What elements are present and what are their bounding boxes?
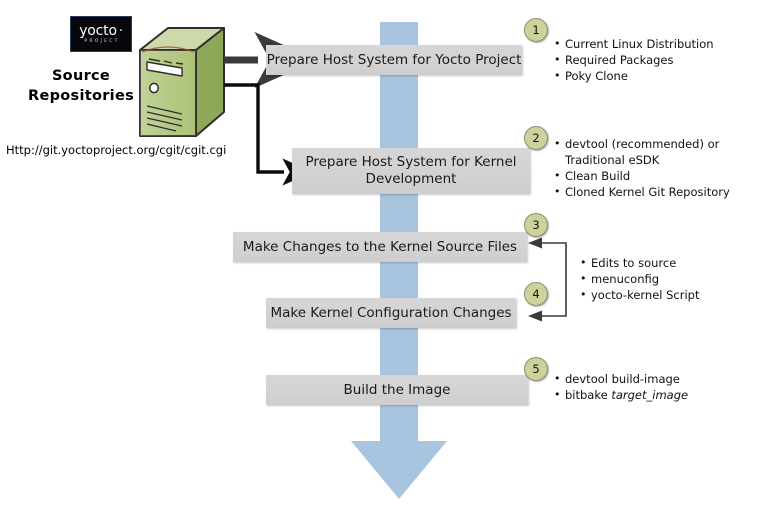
note-item: menuconfig: [580, 271, 730, 287]
yocto-logo-subtitle: PROJECT: [84, 40, 119, 45]
note-item: Poky Clone: [554, 68, 754, 84]
note-item: Clean Build: [554, 168, 750, 184]
note-item: devtool (recommended) or Traditional eSD…: [554, 136, 725, 168]
note-item: yocto-kernel Script: [580, 287, 730, 303]
notes-step-5: devtool build-image bitbake target_image: [554, 371, 734, 403]
note-item-bitbake: bitbake target_image: [554, 387, 734, 403]
step-badge-4: 4: [524, 282, 548, 306]
note-item: devtool build-image: [554, 371, 734, 387]
note-bitbake-prefix: bitbake: [565, 388, 611, 402]
connector-arrow-step4: [528, 311, 542, 322]
note-item: Current Linux Distribution: [554, 36, 754, 52]
yocto-logo-wordmark: yocto·: [79, 24, 123, 38]
yocto-logo: yocto· PROJECT: [70, 16, 132, 52]
note-bitbake-target: target_image: [611, 388, 688, 402]
step-box-make-config-changes[interactable]: Make Kernel Configuration Changes: [266, 298, 516, 328]
source-repository-url: Http://git.yoctoproject.org/cgit/cgit.cg…: [6, 143, 226, 157]
diagram-canvas: yocto· PROJECT Source Repositories Http:…: [0, 0, 769, 517]
note-item: Edits to source: [580, 255, 730, 271]
step-box-prepare-host-kernel[interactable]: Prepare Host System for Kernel Developme…: [292, 148, 530, 194]
source-label-line2: Repositories: [22, 86, 140, 106]
notes-steps-3-and-4: Edits to source menuconfig yocto-kernel …: [580, 255, 730, 303]
step-box-make-source-changes[interactable]: Make Changes to the Kernel Source Files: [233, 232, 527, 262]
notes-step-2: devtool (recommended) or Traditional eSD…: [554, 136, 750, 200]
server-tower-icon: [138, 26, 226, 138]
flow-arrow-head: [351, 441, 447, 499]
connector-notes-bracket: [540, 243, 566, 316]
notes-step-1: Current Linux Distribution Required Pack…: [554, 36, 754, 84]
step-box-build-image[interactable]: Build the Image: [266, 375, 528, 405]
yocto-logo-text: yocto: [79, 23, 117, 39]
note-item: Required Packages: [554, 52, 754, 68]
source-repositories-label: Source Repositories: [22, 66, 140, 106]
yocto-logo-dot: ·: [117, 24, 123, 39]
step-badge-3: 3: [524, 213, 548, 237]
connector-server-to-step2: [224, 85, 284, 172]
step-box-prepare-host-yocto[interactable]: Prepare Host System for Yocto Project: [266, 45, 522, 75]
step-badge-2: 2: [524, 126, 548, 150]
connector-arrow-step3: [528, 238, 542, 249]
source-label-line1: Source: [22, 66, 140, 86]
step-badge-1: 1: [524, 18, 548, 42]
note-item: Cloned Kernel Git Repository: [554, 184, 750, 200]
step-badge-5: 5: [524, 357, 548, 381]
